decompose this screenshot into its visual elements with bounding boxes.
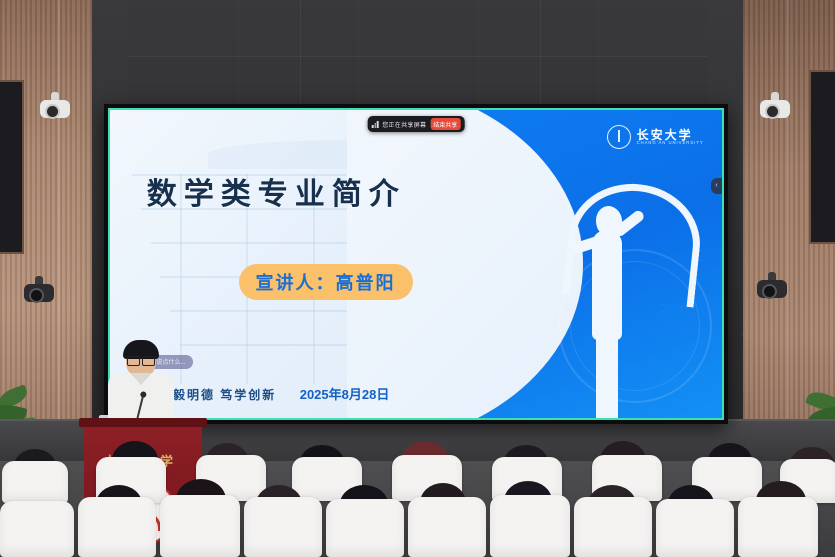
audience-seat [656, 499, 734, 557]
audience-seat [78, 497, 156, 557]
audience-seat [2, 461, 68, 503]
slide-date: 2025年8月28日 [300, 384, 390, 403]
audience-area [0, 457, 835, 557]
audience-seat [244, 497, 322, 557]
share-status-text: 您正在共享屏幕 [382, 120, 426, 129]
speaker-badge: 宣讲人：高普阳 [239, 264, 413, 300]
audience-seat [326, 499, 404, 557]
university-seal-icon [607, 125, 631, 149]
glasses-icon [127, 356, 155, 364]
audience-seat [408, 497, 486, 557]
ptz-camera-right-upper [760, 92, 790, 118]
wall-seam [118, 56, 723, 57]
podium-top [79, 418, 207, 427]
presentation-slide: 长安大学 CHANG'AN UNIVERSITY 数学类专业简介 宣讲人：高普阳… [110, 110, 722, 418]
slide-motto: 弘毅明德 笃学创新 [159, 386, 276, 403]
ribbon-statue-icon [566, 178, 686, 418]
audience-seat [574, 497, 652, 557]
stop-share-button[interactable]: 结束共享 [430, 118, 460, 130]
slide-title: 数学类专业简介 [147, 169, 406, 213]
lecture-hall-screenshot: 长安大学 CHANG'AN UNIVERSITY 数学类专业简介 宣讲人：高普阳… [0, 0, 835, 557]
audience-seat [490, 495, 570, 557]
led-screen-bezel: 长安大学 CHANG'AN UNIVERSITY 数学类专业简介 宣讲人：高普阳… [104, 104, 728, 424]
audience-seat [0, 501, 74, 557]
audience-seat [160, 495, 240, 557]
speaker-person [108, 343, 174, 429]
signal-bars-icon [372, 121, 379, 128]
university-name-en: CHANG'AN UNIVERSITY [637, 141, 704, 145]
wall-panel-right [809, 70, 835, 244]
university-logo: 长安大学 CHANG'AN UNIVERSITY [607, 125, 704, 149]
screen-share-banner[interactable]: 您正在共享屏幕 结束共享 [368, 116, 465, 132]
led-screen: 长安大学 CHANG'AN UNIVERSITY 数学类专业简介 宣讲人：高普阳… [108, 108, 724, 420]
ptz-camera-left-wall [24, 276, 54, 302]
ptz-camera-left-upper [40, 92, 70, 118]
slide-blue-panel [465, 110, 722, 418]
audience-seat [738, 497, 818, 557]
ptz-camera-right-wall [757, 272, 787, 298]
wall-panel-left [0, 80, 24, 254]
university-name: 长安大学 CHANG'AN UNIVERSITY [637, 129, 704, 146]
chevron-left-icon[interactable]: ‹ [711, 178, 722, 194]
